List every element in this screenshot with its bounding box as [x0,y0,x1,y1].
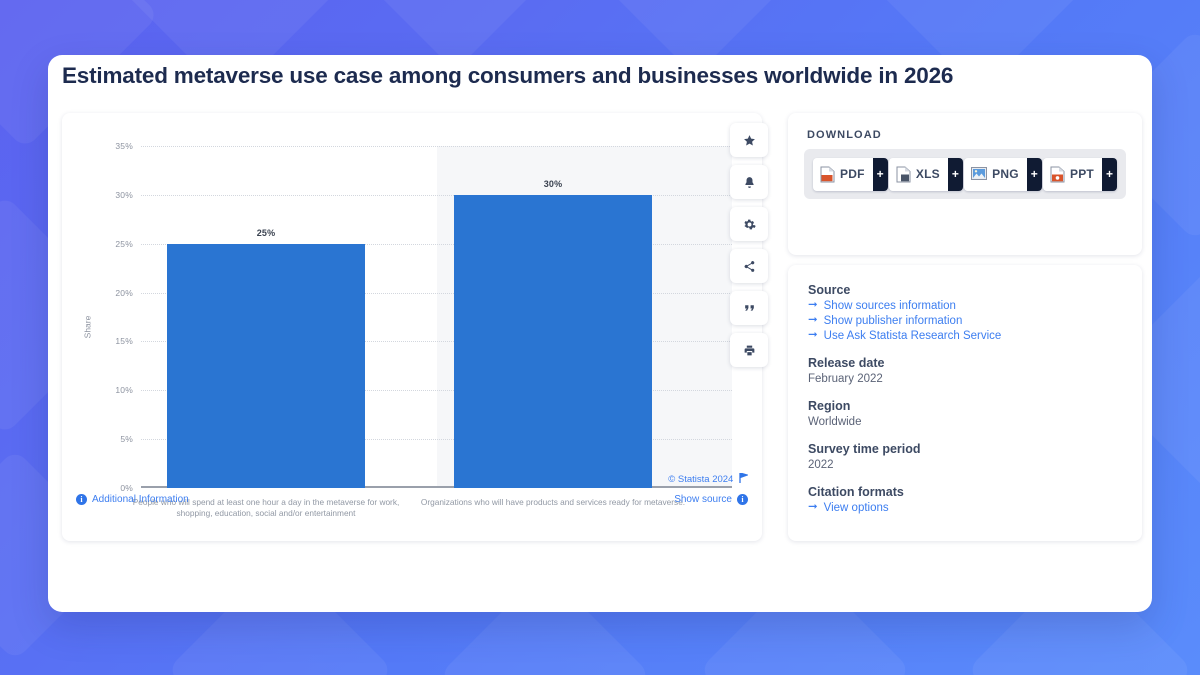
settings-button[interactable] [730,207,768,241]
download-pdf-main[interactable]: PDF [813,158,873,191]
region-value: Worldwide [808,416,1122,428]
ppt-file-icon [1050,166,1065,183]
download-png-plus[interactable]: + [1027,158,1042,191]
gear-icon [743,218,756,231]
bar-category-1[interactable] [454,195,652,488]
gridline [141,146,732,147]
xls-file-icon [896,166,911,183]
flag-icon[interactable] [739,473,748,483]
bell-icon [743,176,756,189]
survey-time-period-value: 2022 [808,459,1122,471]
citation-formats-heading: Citation formats [808,485,1122,499]
download-pdf-label: PDF [840,167,865,181]
bar-value-label: 25% [257,228,276,238]
chart-tools-toolbar [730,123,770,375]
show-source-link[interactable]: Show source i [674,494,748,505]
download-xls-label: XLS [916,167,940,181]
png-image-icon [971,166,987,182]
region-heading: Region [808,399,1122,413]
y-tick-label: 15% [115,336,133,346]
download-xls-main[interactable]: XLS [889,158,948,191]
bar-category-0[interactable] [167,244,365,488]
arrow-right-icon: ➞ [808,300,818,312]
download-title: DOWNLOAD [807,129,882,141]
ask-statista-research-service-link[interactable]: ➞ Use Ask Statista Research Service [808,330,1122,342]
download-ppt-main[interactable]: PPT [1043,158,1102,191]
show-source-label: Show source [674,494,732,505]
share-button[interactable] [730,249,768,283]
plot-area: 35% 30% 25% 20% 15% 10% 5% 0% 25% 30% Pe… [141,146,732,488]
show-sources-information-link[interactable]: ➞ Show sources information [808,300,1122,312]
statista-chart-card: Estimated metaverse use case among consu… [48,55,1152,612]
y-tick-label: 30% [115,190,133,200]
star-icon [743,134,756,147]
release-date-value: February 2022 [808,373,1122,385]
y-tick-label: 5% [120,434,133,444]
info-icon: i [76,494,87,505]
pdf-file-icon [820,166,835,183]
favorite-button[interactable] [730,123,768,157]
download-png-button[interactable]: PNG + [964,158,1042,191]
info-panel: Source ➞ Show sources information ➞ Show… [788,265,1142,541]
chart-footer: © Statista 2024 i Additional Information… [62,481,762,541]
ask-statista-research-service-label: Use Ask Statista Research Service [824,330,1002,342]
share-icon [743,260,756,273]
additional-information-label: Additional Information [92,494,189,505]
chart-panel: Share 35% 30% 25% 20% 15% 10% [62,113,762,541]
copyright-text: © Statista 2024 [668,474,733,485]
notify-button[interactable] [730,165,768,199]
quote-icon [743,302,756,315]
download-buttons-row: PDF + XLS + [804,149,1126,199]
view-options-label: View options [824,502,889,514]
y-tick-label: 10% [115,385,133,395]
arrow-right-icon: ➞ [808,315,818,327]
bar-value-label: 30% [544,179,563,189]
view-options-link[interactable]: ➞ View options [808,502,1122,514]
info-icon: i [737,494,748,505]
y-tick-label: 25% [115,239,133,249]
download-xls-plus[interactable]: + [948,158,963,191]
download-png-label: PNG [992,167,1019,181]
download-panel: DOWNLOAD PDF + [788,113,1142,255]
y-tick-label: 35% [115,141,133,151]
download-pdf-plus[interactable]: + [873,158,888,191]
download-png-main[interactable]: PNG [964,158,1027,191]
copyright-label: © Statista 2024 [668,473,748,485]
arrow-right-icon: ➞ [808,502,818,514]
show-sources-information-label: Show sources information [824,300,956,312]
screenshot-root: Estimated metaverse use case among consu… [0,0,1200,675]
y-axis-label: Share [82,316,92,339]
additional-information-link[interactable]: i Additional Information [76,494,189,505]
print-icon [743,344,756,357]
survey-time-period-heading: Survey time period [808,442,1122,456]
source-heading: Source [808,283,1122,297]
download-ppt-button[interactable]: PPT + [1043,158,1117,191]
show-publisher-information-label: Show publisher information [824,315,963,327]
download-xls-button[interactable]: XLS + [889,158,963,191]
y-tick-label: 20% [115,288,133,298]
download-ppt-plus[interactable]: + [1102,158,1117,191]
download-pdf-button[interactable]: PDF + [813,158,888,191]
cite-button[interactable] [730,291,768,325]
release-date-heading: Release date [808,356,1122,370]
download-ppt-label: PPT [1070,167,1094,181]
print-button[interactable] [730,333,768,367]
page-title: Estimated metaverse use case among consu… [62,63,1122,89]
show-publisher-information-link[interactable]: ➞ Show publisher information [808,315,1122,327]
arrow-right-icon: ➞ [808,330,818,342]
